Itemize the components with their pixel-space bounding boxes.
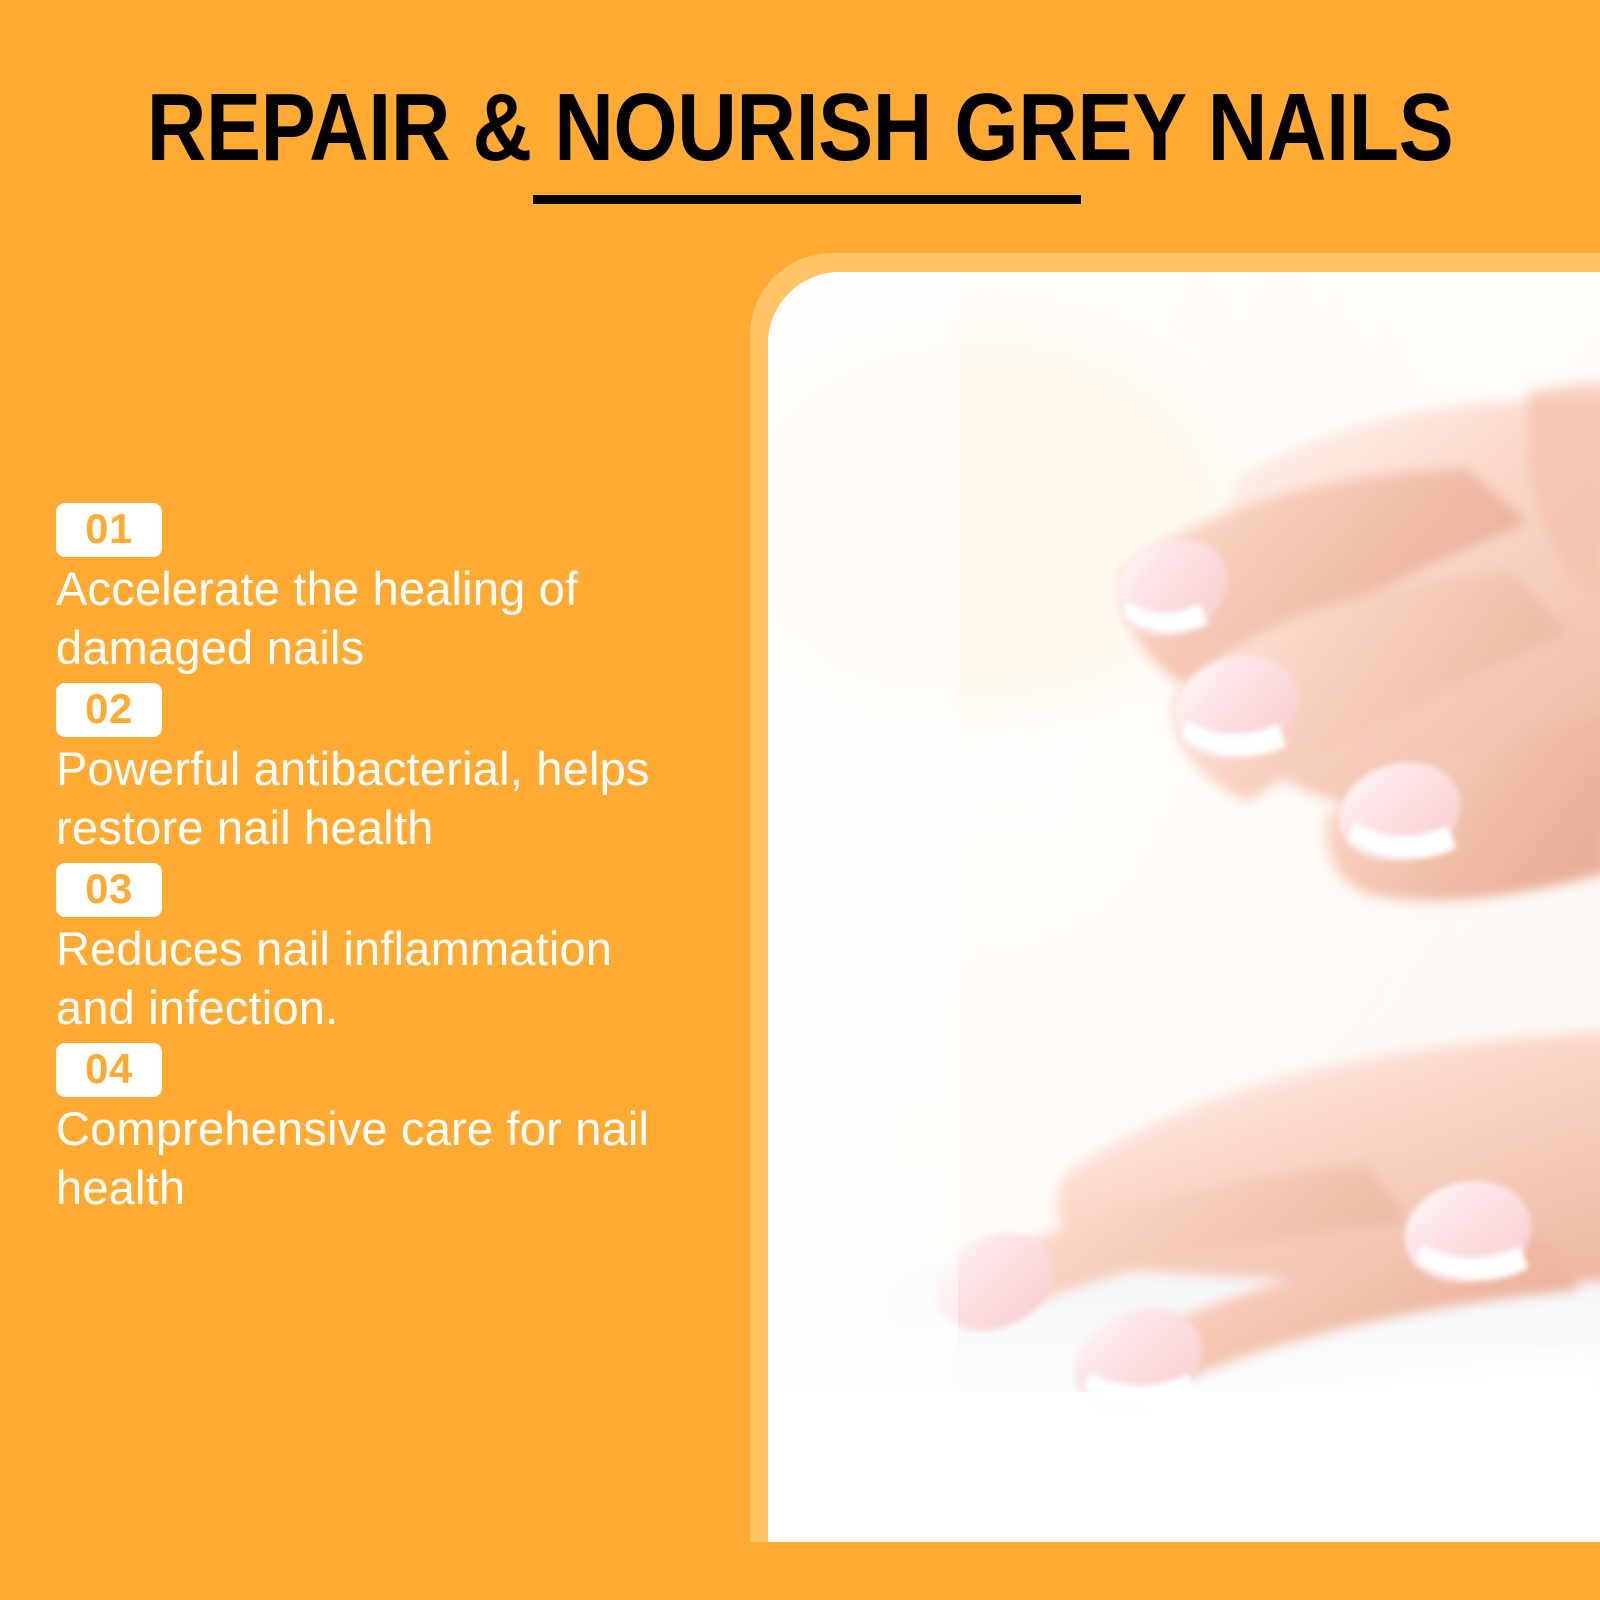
feature-number-02: 02	[70, 687, 148, 731]
title-underline-rule	[533, 195, 1081, 204]
feature-item-01: 01 Accelerate the healing of damaged nai…	[56, 503, 716, 677]
feature-item-04: 04 Comprehensive care for nail health	[56, 1043, 716, 1217]
feature-text-03: Reduces nail inflammation and infection.	[56, 919, 696, 1037]
banner-title-block: REPAIR & NOURISH GREY NAILS	[0, 78, 1600, 178]
feature-number-badge-02: 02	[56, 683, 162, 737]
page-title: REPAIR & NOURISH GREY NAILS	[112, 78, 1488, 178]
feature-text-02: Powerful antibacterial, helps restore na…	[56, 739, 696, 857]
feature-number-04: 04	[70, 1047, 148, 1091]
feature-text-04: Comprehensive care for nail health	[56, 1099, 696, 1217]
feature-item-02: 02 Powerful antibacterial, helps restore…	[56, 683, 716, 857]
promo-banner: REPAIR & NOURISH GREY NAILS	[0, 0, 1600, 1600]
feature-number-01: 01	[70, 507, 148, 551]
feature-number-badge-01: 01	[56, 503, 162, 557]
hands-manicure-photo	[768, 272, 1600, 1542]
feature-item-03: 03 Reduces nail inflammation and infecti…	[56, 863, 716, 1037]
feature-number-badge-03: 03	[56, 863, 162, 917]
feature-text-01: Accelerate the healing of damaged nails	[56, 559, 696, 677]
feature-number-badge-04: 04	[56, 1043, 162, 1097]
feature-list: 01 Accelerate the healing of damaged nai…	[56, 503, 716, 1223]
feature-number-03: 03	[70, 867, 148, 911]
photo-panel	[768, 272, 1600, 1542]
